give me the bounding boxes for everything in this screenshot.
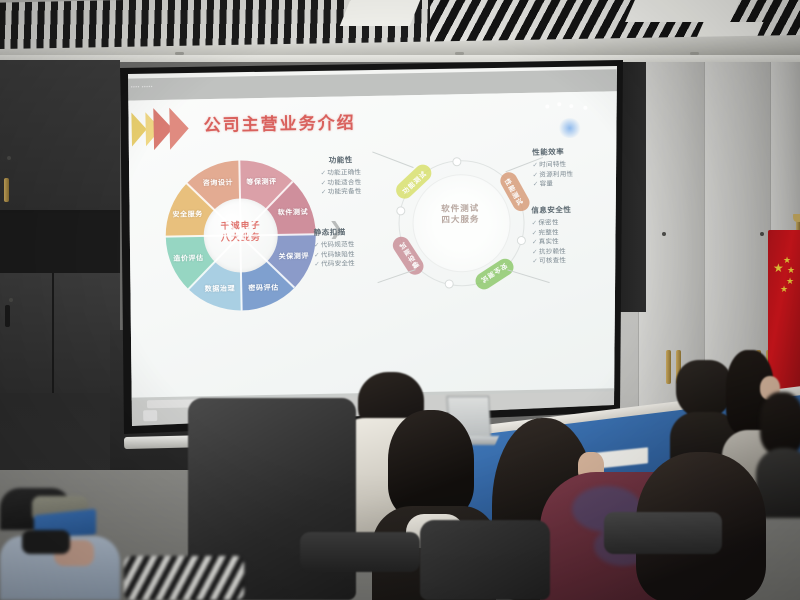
cabinet-lock [7,156,11,160]
cabinet-door[interactable] [0,60,120,212]
hair [676,360,732,418]
chair-striped-cover [124,556,244,600]
feature-item-label: 功能适合性 [327,178,361,187]
app-icon[interactable] [143,410,157,421]
donut-segment-label: 数据治理 [205,283,236,294]
ring-leader-line [505,157,543,172]
ring-center-label: 软件测试 四大服务 [412,203,508,227]
check-icon: ✓ [321,178,327,186]
donut-segment-label: 等保测评 [246,177,277,188]
ring-leader-line [372,151,413,168]
feature-item-label: 功能正确性 [327,168,361,177]
donut-segment-label: 关保测评 [279,251,310,262]
feature-item-label: 功能完备性 [328,187,362,196]
glow-spot [558,118,582,138]
eight-business-donut-chart: 千诚电子 八大业务 等保测评软件测试关保测评密码评估数据治理造价评估安全服务咨询… [164,159,317,312]
flag-finial-icon [793,214,800,222]
chair-armrest [604,512,722,554]
flag-star-icon: ★ [780,285,788,294]
feature-item-label: 代码安全性 [321,259,355,268]
feature-item-label: 保密性 [538,218,559,226]
cabinet-lock [662,232,666,236]
double-chevron-logo [131,107,198,152]
dark-sleeve [22,530,70,554]
donut-segment-label: 软件测试 [278,207,309,218]
check-icon: ✓ [320,169,326,177]
donut-segment-label: 安全服务 [172,209,203,220]
glow-dot [557,102,561,106]
chevron-shape [169,107,189,149]
chinese-flag: ★ ★ ★ ★ ★ [768,214,800,394]
ceiling-panel [340,0,421,26]
cabinet-seam [52,273,54,393]
ring-leader-line [507,269,549,283]
os-topbar-text: •••• ••••• [131,84,153,90]
flag-star-icon: ★ [787,266,795,275]
feature-list-static-scan: 静态扣描✓代码规范性✓代码缺陷性✓代码安全性 [314,226,356,269]
ceiling-screw [455,52,464,55]
glow-dot [583,106,587,110]
office-chair [420,520,550,600]
check-icon: ✓ [314,250,320,258]
ring-connector-node [396,206,405,215]
glow-dot [545,104,549,108]
ceiling-screw [690,52,699,55]
ceiling [0,0,800,62]
donut-segment-label: 造价评估 [173,253,204,264]
flag-star-icon: ★ [773,264,784,273]
cabinet-lock [9,298,13,302]
donut-segment-label: 咨询设计 [203,178,234,189]
cabinet-handle[interactable] [4,178,9,202]
feature-item-label: 代码规范性 [321,240,355,249]
feature-item-label: 可核查性 [539,256,566,265]
feature-list-heading: 功能性 [320,154,361,166]
feature-list-functional: 功能性✓功能正确性✓功能适合性✓功能完备性 [320,154,362,197]
ceiling-panel [625,0,740,22]
projector-lens-glow [543,102,600,151]
feature-list-item: ✓功能完备性 [321,187,362,197]
ceiling-screw [175,52,184,55]
feature-list-item: ✓代码安全性 [314,259,355,269]
feature-item-label: 代码缺陷性 [321,250,355,259]
chair-armrest [300,532,420,572]
flag-cloth: ★ ★ ★ ★ ★ [768,230,800,394]
ring-leader-line [377,269,415,283]
ring-connector-node [453,157,462,166]
slide-canvas: 公司主营业务介绍 千诚电子 八大业务 [123,91,623,400]
donut-segment-divider [240,233,315,236]
cabinet-handle[interactable] [666,350,671,384]
slide-title: 公司主营业务介绍 [203,108,355,136]
feature-item-label: 完整性 [538,228,559,236]
feature-item-label: 抗抄赖性 [539,247,566,256]
photo-scene: ★ ★ ★ ★ ★ •••• ••••• [0,0,800,600]
four-services-ring-diagram: 软件测试 四大服务 功能测试性能测试安全测试静态测试 [379,141,542,304]
check-icon: ✓ [321,188,327,196]
feature-list-heading: 静态扣描 [314,226,355,238]
check-icon: ✓ [314,241,320,249]
feature-item-label: 容量 [539,179,553,187]
donut-segment-label: 密码评估 [248,282,279,293]
hair [760,392,800,454]
cabinet-recess [0,213,120,273]
ring-connector-node [517,236,526,245]
cabinet-door[interactable] [0,273,120,393]
glow-dot [569,104,573,108]
ring-center-line2: 四大服务 [412,214,508,227]
cabinet-handle[interactable] [5,305,10,327]
feature-item-label: 真实性 [539,237,560,245]
cabinet-lock [760,232,764,236]
flag-star-icon: ★ [783,256,791,265]
feature-item-label: 资源利用性 [539,170,573,179]
ring-connector-node [444,279,453,288]
feature-item-label: 时间特性 [539,160,566,169]
check-icon: ✓ [314,260,320,268]
hair [388,410,474,518]
